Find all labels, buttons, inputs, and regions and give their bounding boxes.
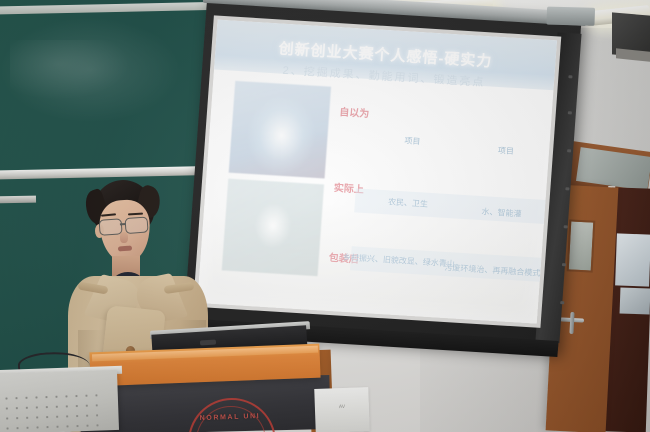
classroom-photo: 创新创业大赛个人感悟-硬实力 2、挖掘成果、勤能用词、锻造亮点 自以为 实际上 … [0, 0, 650, 432]
slide-cell: 项目 [471, 143, 542, 158]
glasses-lens-left [99, 218, 123, 236]
doorway-window-lower [620, 287, 650, 314]
projection-screen: 创新创业大赛个人感悟-硬实力 2、挖掘成果、勤能用词、锻造亮点 自以为 实际上 … [183, 0, 582, 355]
screen-roller-cap [546, 7, 595, 26]
chalk-tray [0, 196, 36, 204]
screen-edge-stud [567, 149, 571, 152]
mouth [118, 246, 132, 252]
laptop-hinge [200, 340, 216, 346]
chalkboard-glare [10, 40, 130, 100]
slide-photo-top [229, 81, 331, 179]
slide-row-label-expected: 自以为 [339, 103, 370, 120]
screen-edge-stud [565, 187, 569, 190]
glasses-lens-right [125, 216, 149, 234]
glasses-icon [98, 216, 155, 234]
slide-content: 创新创业大赛个人感悟-硬实力 2、挖掘成果、勤能用词、锻造亮点 自以为 实际上 … [197, 20, 557, 324]
nose [120, 232, 128, 243]
door-window [567, 219, 596, 272]
doorway-window-upper [615, 233, 650, 286]
screen-edge-stud [560, 301, 564, 304]
screen-projection-surface: 创新创业大赛个人感悟-硬实力 2、挖掘成果、勤能用词、锻造亮点 自以为 实际上 … [197, 20, 557, 324]
slide-cell: 项目 [377, 134, 448, 149]
screen-edge-stud [564, 225, 568, 228]
screen-edge-stud [568, 75, 572, 78]
screen-edge-stud [562, 263, 566, 266]
screen-edge-stud [568, 111, 572, 114]
slide-photo-bottom [222, 179, 324, 277]
speaker-grille [1, 390, 98, 432]
